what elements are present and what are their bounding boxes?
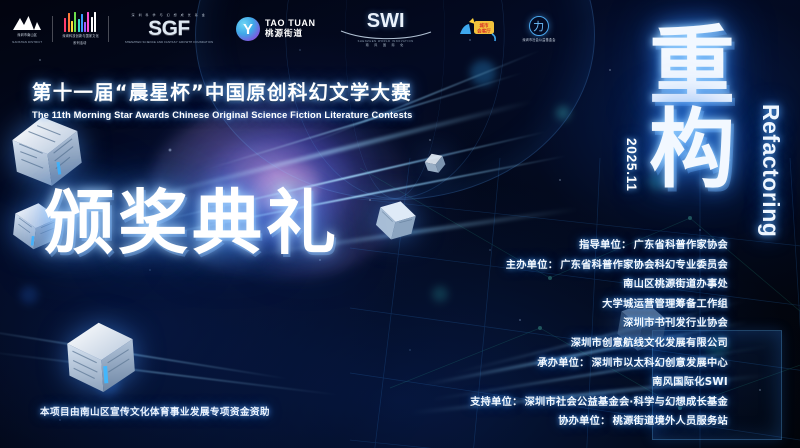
logo-nanshan-culture[interactable]: 深圳市南山区 NANSHAN DISTRICT	[12, 9, 43, 49]
logo-divider	[108, 16, 109, 42]
credit-value: 广东省科普作家协会	[634, 236, 728, 251]
credit-value: 桃源街道境外人员服务站	[613, 412, 728, 427]
taotuan-mark-icon	[236, 17, 260, 41]
credit-value: 广东省科普作家协会科幻专业委员会	[560, 256, 728, 271]
title-block: 第十一届“晨星杯”中国原创科幻文学大赛 The 11th Morning Sta…	[32, 76, 482, 120]
logo-label-sub: 系列活动	[74, 41, 87, 46]
bokeh-dot	[556, 106, 570, 120]
page-subtitle: The 11th Morning Star Awards Chinese Ori…	[32, 110, 482, 120]
theme-date: 2025.11	[624, 138, 639, 192]
theme-block: 重构 Refactoring 2025.11	[605, 26, 790, 261]
credit-label: 支持单位：	[470, 393, 522, 408]
credit-label: 指导单位：	[579, 236, 631, 251]
credit-value: 深圳市以太科幻创意发展中心	[592, 354, 728, 369]
logo-nanshan-science-festival[interactable]: 深圳科技创新与国家文化 系列活动	[62, 9, 99, 49]
foundation-mark-icon	[529, 16, 549, 36]
logo-tao-tuan[interactable]: TAO TUAN 桃源街道	[236, 9, 316, 49]
logo-label-en: NANSHAN DISTRICT	[12, 40, 42, 44]
logo-label-sub: SHENZHEN SCIENCE AND FANTASY GROWTH FOUN…	[125, 40, 213, 44]
logo-sgf[interactable]: 深 圳 科 学 与 幻 想 成 长 基 金 SGF SHENZHEN SCIEN…	[124, 9, 214, 49]
city-hall-icon: 城市 会客厅	[458, 16, 498, 42]
credit-value: 深圳市创意航线文化发展有限公司	[571, 334, 728, 349]
tech-cube-icon	[62, 318, 140, 396]
tech-cube-icon	[8, 112, 86, 190]
logo-shenzhen-foundation[interactable]: 深圳市社会公益基金会	[522, 9, 556, 49]
bokeh-dot	[96, 372, 120, 396]
tech-cube-icon	[372, 196, 420, 244]
logo-city-life[interactable]: 城市 会客厅	[458, 9, 498, 49]
credit-value: 大学城运营管理筹备工作组	[602, 295, 728, 310]
logo-wordmark: SWI	[367, 12, 405, 31]
logo-label-cn: 深圳市南山区	[17, 33, 37, 38]
logo-label-en: TAO TUAN	[265, 19, 316, 28]
credit-value: 深圳市社会公益基金会·科学与幻想成长基金	[525, 393, 728, 408]
logo-divider	[52, 16, 53, 42]
credit-label: 承办单位：	[537, 354, 589, 369]
tech-cube-icon	[422, 150, 448, 176]
theme-title-cn: 重构	[646, 26, 738, 193]
theme-title-en: Refactoring	[757, 104, 784, 237]
svg-text:会客厅: 会客厅	[476, 28, 491, 35]
credit-label: 协办单位：	[558, 412, 610, 427]
credit-value: 南风国际化SWI	[652, 373, 728, 388]
bokeh-dot	[432, 286, 448, 302]
svg-text:城市: 城市	[479, 22, 489, 29]
credit-value: 深圳市书刊发行业协会	[623, 314, 728, 329]
logo-label-cn: 深圳市社会公益基金会	[522, 38, 555, 43]
logo-label-cn: 深圳科技创新与国家文化	[62, 34, 99, 39]
bokeh-dot	[20, 286, 38, 304]
poster-canvas: 深圳市南山区 NANSHAN DISTRICT 深圳科技创新与国家文化 系列活动	[0, 0, 800, 448]
logo-swi[interactable]: SWI SHENZHEN WORLD INNOVATION 南 风 国 际 化	[340, 9, 432, 49]
logo-label-cn: 南 风 国 际 化	[366, 43, 406, 47]
logo-label-cn: 桃源街道	[265, 29, 316, 39]
rainbow-bars-icon	[64, 12, 96, 32]
swi-swoosh-icon	[340, 30, 432, 40]
credit-value: 南山区桃源街道办事处	[623, 275, 728, 290]
page-title: 第十一届“晨星杯”中国原创科幻文学大赛	[32, 76, 482, 105]
mountain-icon	[12, 14, 42, 31]
hero-headline: 颁奖典礼	[44, 188, 340, 258]
logo-wordmark: SGF	[148, 18, 190, 39]
funding-note: 本项目由南山区宣传文化体育事业发展专项资金资助	[40, 404, 270, 418]
credit-label: 主办单位：	[506, 256, 558, 271]
